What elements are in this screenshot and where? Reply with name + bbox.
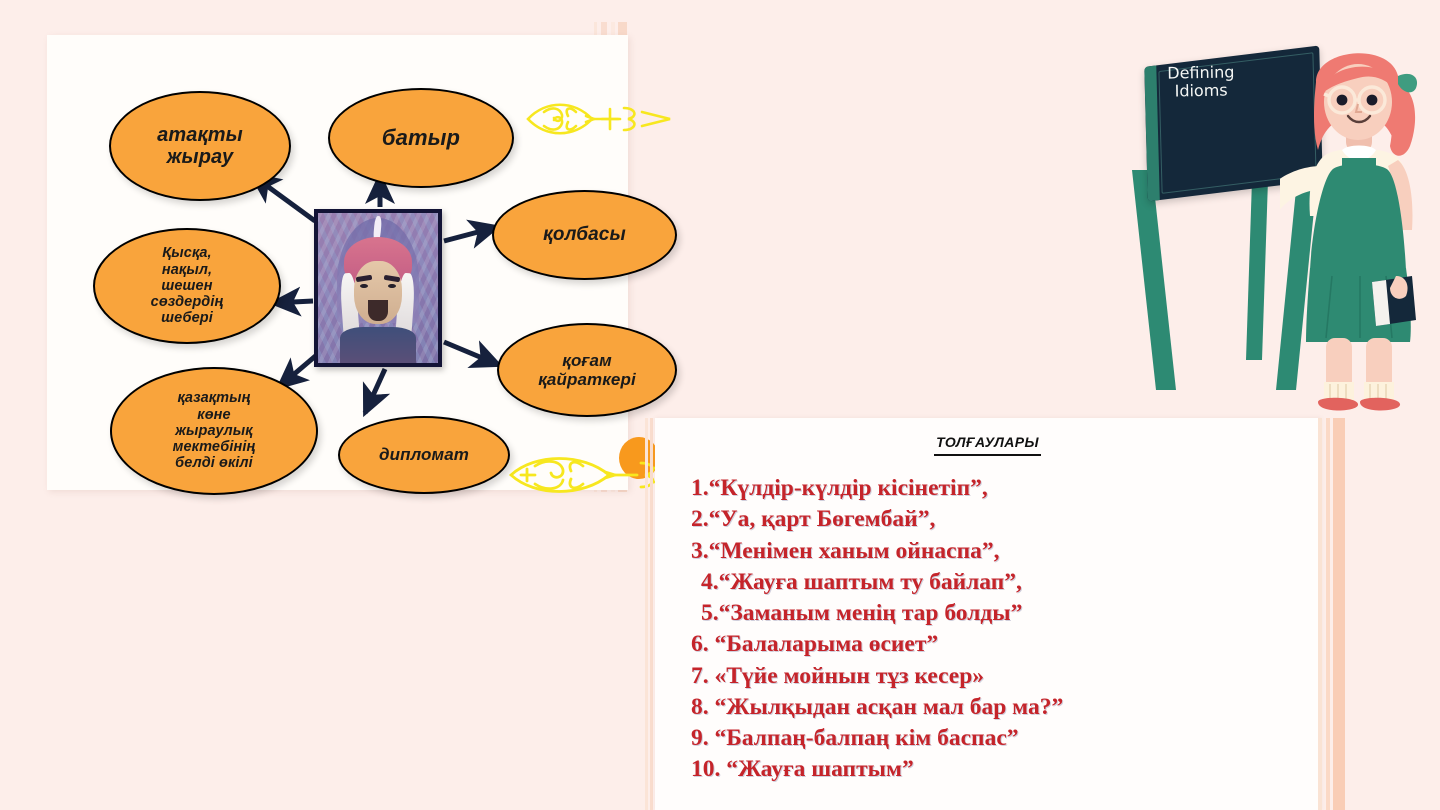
girl-character-icon bbox=[1280, 30, 1440, 420]
list-item: 4.“Жауға шаптым ту байлап”, bbox=[691, 567, 1291, 598]
tolgau-title-text: Толғаулары bbox=[934, 430, 1041, 456]
arrow-to-kazaktyn bbox=[279, 353, 319, 387]
node-line: қоғам bbox=[562, 351, 612, 370]
node-line: шебері bbox=[161, 310, 213, 326]
concept-node-kazaktyn-kone-zhyraulyk[interactable]: қазақтың көне жыраулық мектебінің белді … bbox=[110, 367, 318, 495]
arrow-to-kogam bbox=[444, 342, 499, 365]
zhyrau-portrait-image bbox=[314, 209, 442, 367]
node-line: дипломат bbox=[379, 445, 469, 464]
stripe-1 bbox=[645, 418, 648, 810]
node-line: қолбасы bbox=[543, 224, 626, 245]
arrow-to-kyska bbox=[273, 301, 313, 303]
list-item: 1.“Күлдір-күлдір кісінетіп”, bbox=[691, 473, 1291, 504]
list-item: 5.“Заманым менің тар болды” bbox=[691, 598, 1291, 629]
concept-map-panel: атақты жырау батыр қолбасы қоғам қайратк… bbox=[47, 35, 628, 490]
list-item: 9. “Балпаң-балпаң кім баспас” bbox=[691, 723, 1291, 754]
concept-node-batyr[interactable]: батыр bbox=[328, 88, 514, 188]
node-line: қазақтың bbox=[177, 390, 250, 406]
concept-node-atakty-zhyrau[interactable]: атақты жырау bbox=[109, 91, 291, 201]
stripe-3 bbox=[1333, 418, 1345, 810]
tolgau-items-list: 1.“Күлдір-күлдір кісінетіп”, 2.“Уа, қарт… bbox=[691, 473, 1291, 786]
node-line: жырау bbox=[167, 146, 234, 168]
stripe-1 bbox=[1318, 418, 1322, 810]
concept-node-kyska-nakyl-shehen[interactable]: Қысқа, нақыл, шешен сөздердің шебері bbox=[93, 228, 281, 344]
right-edge-stripes bbox=[1316, 418, 1350, 810]
node-line: Қысқа, bbox=[162, 245, 211, 261]
node-line: жыраулық bbox=[175, 423, 252, 439]
tolgau-title: Толғаулары bbox=[655, 430, 1320, 453]
stripe-2 bbox=[1326, 418, 1330, 810]
teacher-illustration: Defining Idioms bbox=[1110, 30, 1440, 420]
list-item: 10. “Жауға шаптым” bbox=[691, 754, 1291, 785]
node-line: атақты bbox=[157, 124, 243, 146]
node-line: белді өкілі bbox=[175, 455, 253, 471]
node-line: нақыл, bbox=[162, 262, 212, 278]
node-line: шешен bbox=[161, 278, 212, 294]
list-item: 2.“Уа, қарт Бөгембай”, bbox=[691, 504, 1291, 535]
node-line: сөздердің bbox=[151, 294, 224, 310]
slide-canvas: атақты жырау батыр қолбасы қоғам қайратк… bbox=[0, 0, 1440, 810]
stripe-2 bbox=[650, 418, 653, 810]
list-item: 6. “Балаларыма өсиет” bbox=[691, 629, 1291, 660]
node-line: батыр bbox=[382, 125, 460, 150]
tolgau-list-panel: Толғаулары 1.“Күлдір-күлдір кісінетіп”, … bbox=[655, 418, 1320, 810]
kazakh-ornament-top-icon bbox=[524, 90, 674, 148]
blackboard-text: Defining Idioms bbox=[1136, 63, 1267, 101]
node-line: мектебінің bbox=[173, 439, 256, 455]
blackboard-line-2: Idioms bbox=[1136, 81, 1266, 101]
node-line: көне bbox=[197, 407, 230, 423]
arrow-to-diplomat bbox=[365, 369, 385, 413]
concept-node-kolbasy[interactable]: қолбасы bbox=[492, 190, 677, 280]
list-item: 3.“Менімен ханым ойнаспа”, bbox=[691, 536, 1291, 567]
arrow-to-kolbasy bbox=[444, 227, 497, 241]
node-line: қайраткері bbox=[538, 370, 636, 389]
concept-node-diplomat[interactable]: дипломат bbox=[338, 416, 510, 494]
list-item: 8. “Жылқыдан асқан мал бар ма?” bbox=[691, 692, 1291, 723]
concept-node-kogam-kayratkeri[interactable]: қоғам қайраткері bbox=[497, 323, 677, 417]
list-item: 7. «Түйе мойнын тұз кесер» bbox=[691, 661, 1291, 692]
